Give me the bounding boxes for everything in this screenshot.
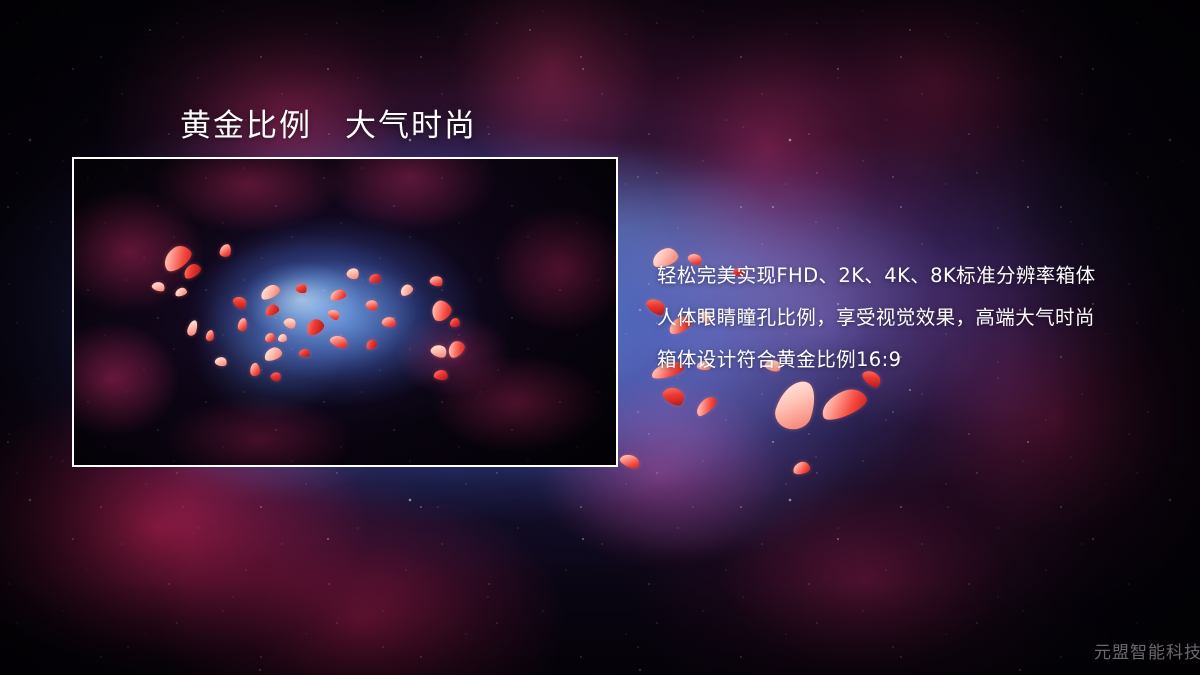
petal-icon [298,348,310,357]
petal-icon [450,318,460,327]
page-title: 黄金比例 大气时尚 [180,100,477,145]
petal-icon [369,274,381,283]
body-text-block: 轻松完美实现FHD、2K、4K、8K标准分辨率箱体 人体眼睛瞳孔比例，享受视觉效… [657,255,1177,381]
petal-icon [278,334,287,342]
presentation-slide: 黄金比例 大气时尚 轻松完美实现FHD、2K、4K、8K标准分辨率箱体 人体眼睛… [0,0,1200,675]
framed-image-content [74,159,616,465]
body-line-2: 人体眼睛瞳孔比例，享受视觉效果，高端大气时尚 [657,297,1177,339]
petal-icon [265,333,275,342]
framed-image [72,157,618,467]
framed-vignette [74,159,616,465]
body-line-3: 箱体设计符合黄金比例16:9 [657,339,1177,381]
watermark: 元盟智能科技 [1094,638,1200,663]
body-line-1: 轻松完美实现FHD、2K、4K、8K标准分辨率箱体 [657,255,1177,297]
